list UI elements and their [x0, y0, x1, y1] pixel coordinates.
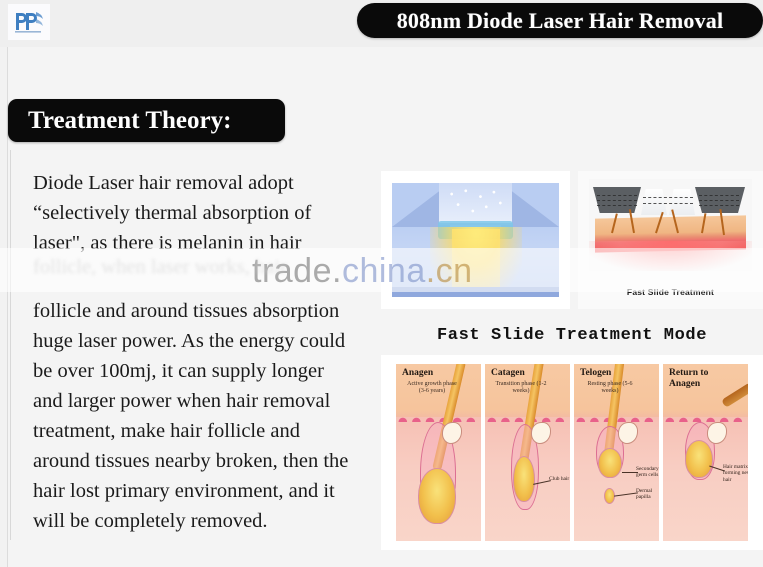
left-vertical-rule [10, 150, 11, 540]
fast-slide-skin-illustration [589, 179, 752, 271]
section-title: Treatment Theory: [8, 107, 231, 135]
fast-slide-figure: Fast Slide Treatment [578, 171, 763, 309]
cycle-title-telogen: Telogen [580, 368, 611, 379]
theory-paragraph-2: follicle and around tissues absorption h… [33, 296, 353, 536]
cycle-title-return-anagen: Return to Anagen [669, 368, 717, 390]
cycle-subtitle-anagen: Active growth phase (3-6 years) [404, 381, 460, 395]
treatment-mode-caption: Fast Slide Treatment Mode [381, 326, 763, 345]
cycle-annotation-hair-matrix: Hair matrix forming new hair [723, 464, 748, 483]
figure-row: Fast Slide Treatment [381, 171, 763, 309]
cycle-subtitle-telogen: Resting phase (5-6 weeks) [582, 381, 638, 395]
cycle-annotation-germ-cells: Secondary germ cells [636, 466, 659, 479]
cycle-panel-return-anagen: Hair matrix forming new hair Return to A… [663, 364, 748, 541]
header-banner: 808nm Diode Laser Hair Removal [357, 3, 763, 38]
theory-obscured-line: follicle, when laser works, hair [33, 252, 353, 282]
laser-beam-illustration [392, 183, 559, 297]
laser-beam-figure [381, 171, 570, 309]
section-title-chip: Treatment Theory: [8, 99, 285, 142]
page-root: 808nm Diode Laser Hair Removal Treatment… [0, 0, 763, 567]
header-banner-title: 808nm Diode Laser Hair Removal [397, 8, 724, 34]
cycle-title-anagen: Anagen [402, 368, 433, 379]
fast-slide-caption: Fast Slide Treatment [578, 287, 763, 297]
cycle-subtitle-catagen: Transition phase (1-2 weeks) [493, 381, 549, 395]
cycle-panel-telogen: Secondary germ cells Dermal papilla Telo… [574, 364, 659, 541]
hair-cycle-panels: Anagen Active growth phase (3-6 years) C… [396, 364, 748, 541]
cycle-annotation-club-hair: Club hair [549, 476, 570, 482]
cycle-panel-anagen: Anagen Active growth phase (3-6 years) [396, 364, 481, 541]
hair-cycle-figure: Anagen Active growth phase (3-6 years) C… [381, 355, 763, 550]
theory-paragraph-1: Diode Laser hair removal adopt “selectiv… [33, 168, 353, 258]
company-logo [8, 4, 50, 40]
cycle-panel-catagen: Club hair Catagen Transition phase (1-2 … [485, 364, 570, 541]
cycle-annotation-dermal-papilla: Dermal papilla [636, 488, 659, 501]
cycle-title-catagen: Catagen [491, 368, 525, 379]
